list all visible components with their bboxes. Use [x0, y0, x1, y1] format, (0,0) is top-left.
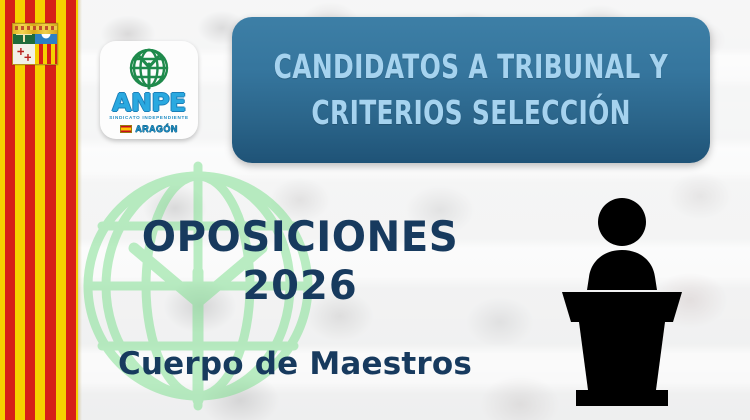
- anpe-region-row: ARAGÓN: [120, 124, 177, 134]
- coa-quadrant-3: [13, 44, 35, 64]
- headline-year: 2026: [120, 264, 480, 308]
- coat-of-arms-of-aragon: [12, 23, 58, 65]
- coa-quadrant-4: [35, 44, 57, 64]
- title-banner: CANDIDATOS A TRIBUNAL Y CRITERIOS SELECC…: [232, 17, 710, 163]
- crown-band: [13, 24, 58, 34]
- anpe-wordmark: ANPE: [112, 92, 186, 114]
- anpe-tagline: SINDICATO INDEPENDIENTE: [109, 115, 188, 120]
- flag-edge-shadow: [78, 0, 82, 420]
- banner-line-1: CANDIDATOS A TRIBUNAL Y: [274, 45, 668, 89]
- anpe-logo-card: ANPE SINDICATO INDEPENDIENTE ARAGÓN: [100, 41, 198, 139]
- anpe-region-label: ARAGÓN: [135, 124, 177, 134]
- globe-icon: [122, 47, 176, 91]
- headline-title: OPOSICIONES: [127, 214, 473, 260]
- spain-flag-icon: [120, 125, 132, 133]
- banner-line-2: CRITERIOS SELECCIÓN: [311, 91, 630, 135]
- headline-body: Cuerpo de Maestros: [110, 344, 480, 384]
- speaker-at-podium-icon: [548, 196, 696, 420]
- poster-canvas: ANPE SINDICATO INDEPENDIENTE ARAGÓN CAND…: [0, 0, 750, 420]
